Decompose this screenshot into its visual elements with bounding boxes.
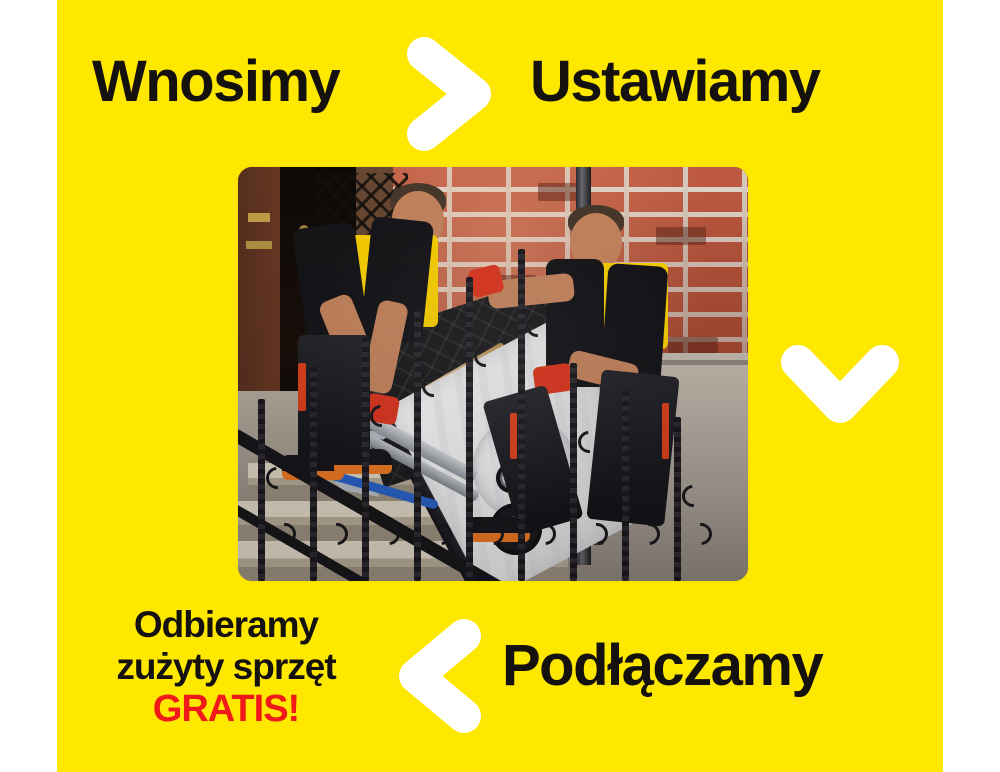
door-plate [246,241,272,249]
railing-post [570,363,577,581]
railing-post [674,417,681,581]
step-label-wnosimy: Wnosimy [92,52,339,112]
worker-pants-stripe [662,403,669,459]
railing-post [310,367,317,581]
chevron-left-icon [384,612,496,740]
chevron-down-icon [776,338,904,436]
step-label-podlaczamy: Podłączamy [502,636,822,696]
promo-banner: Wnosimy Ustawiamy [0,0,1000,772]
step-label-ustawiamy: Ustawiamy [530,52,820,112]
railing-post [466,277,473,581]
step-block-odbieramy: Odbieramy zużyty sprzęt GRATIS! [76,604,376,732]
step-label-zuzyty-sprzet: zużyty sprzęt [76,646,376,688]
photo-scene [238,167,748,581]
worker-pants-stripe [298,363,306,411]
chevron-right-icon [396,30,508,158]
step-label-odbieramy: Odbieramy [76,604,376,646]
railing-post [518,249,525,581]
door-plate [248,213,270,222]
railing-post [258,399,265,581]
worker-pants-stripe [510,413,517,459]
railing-post [414,307,421,581]
railing-post [622,391,629,581]
delivery-photo [238,167,748,581]
brick-patch [656,227,706,245]
railing-post [362,337,369,581]
step-label-gratis: GRATIS! [76,688,376,731]
